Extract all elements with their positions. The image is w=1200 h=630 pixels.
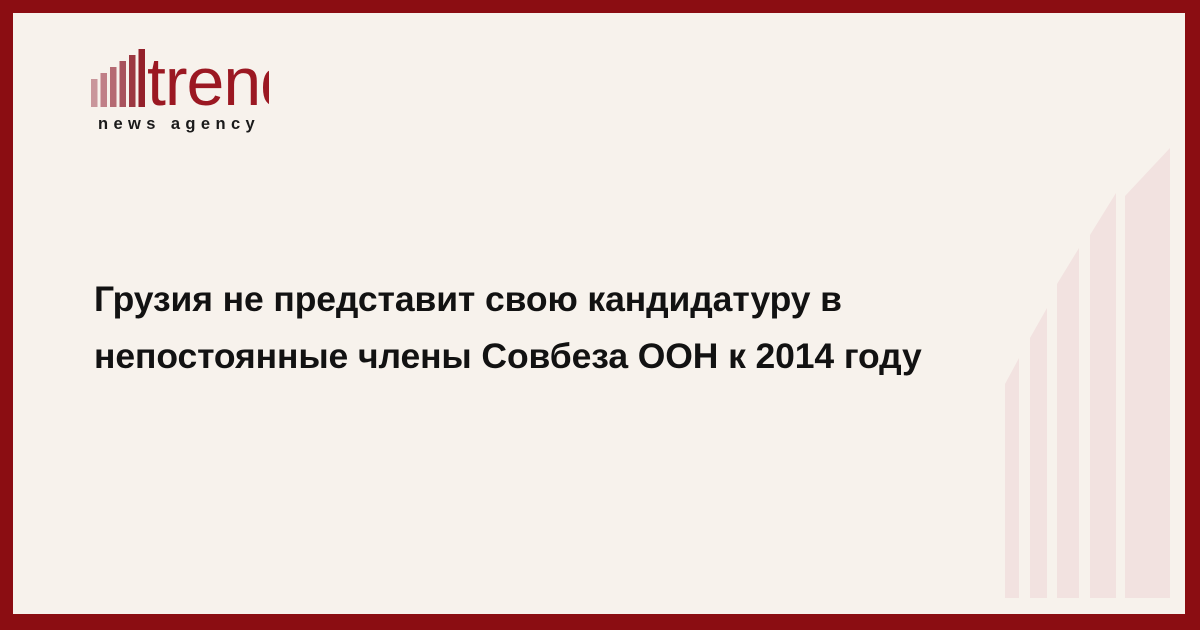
card-canvas: trend news agency Грузия не представит с… xyxy=(13,13,1185,614)
article-share-card: trend news agency Грузия не представит с… xyxy=(0,0,1200,630)
trend-logo-icon: trend xyxy=(91,47,269,113)
watermark-bar xyxy=(1090,193,1116,598)
headline-title: Грузия не представит свою кандидатуру в … xyxy=(94,271,1024,385)
svg-text:trend: trend xyxy=(147,47,269,113)
watermark-bar xyxy=(1125,148,1170,598)
watermark-bar xyxy=(1005,358,1019,598)
brand-logo[interactable]: trend news agency xyxy=(91,43,351,148)
logo-tagline: news agency xyxy=(98,115,260,134)
watermark-bar xyxy=(1030,308,1047,598)
watermark-bar xyxy=(1057,248,1079,598)
watermark-ascending-bars xyxy=(1000,153,1175,598)
